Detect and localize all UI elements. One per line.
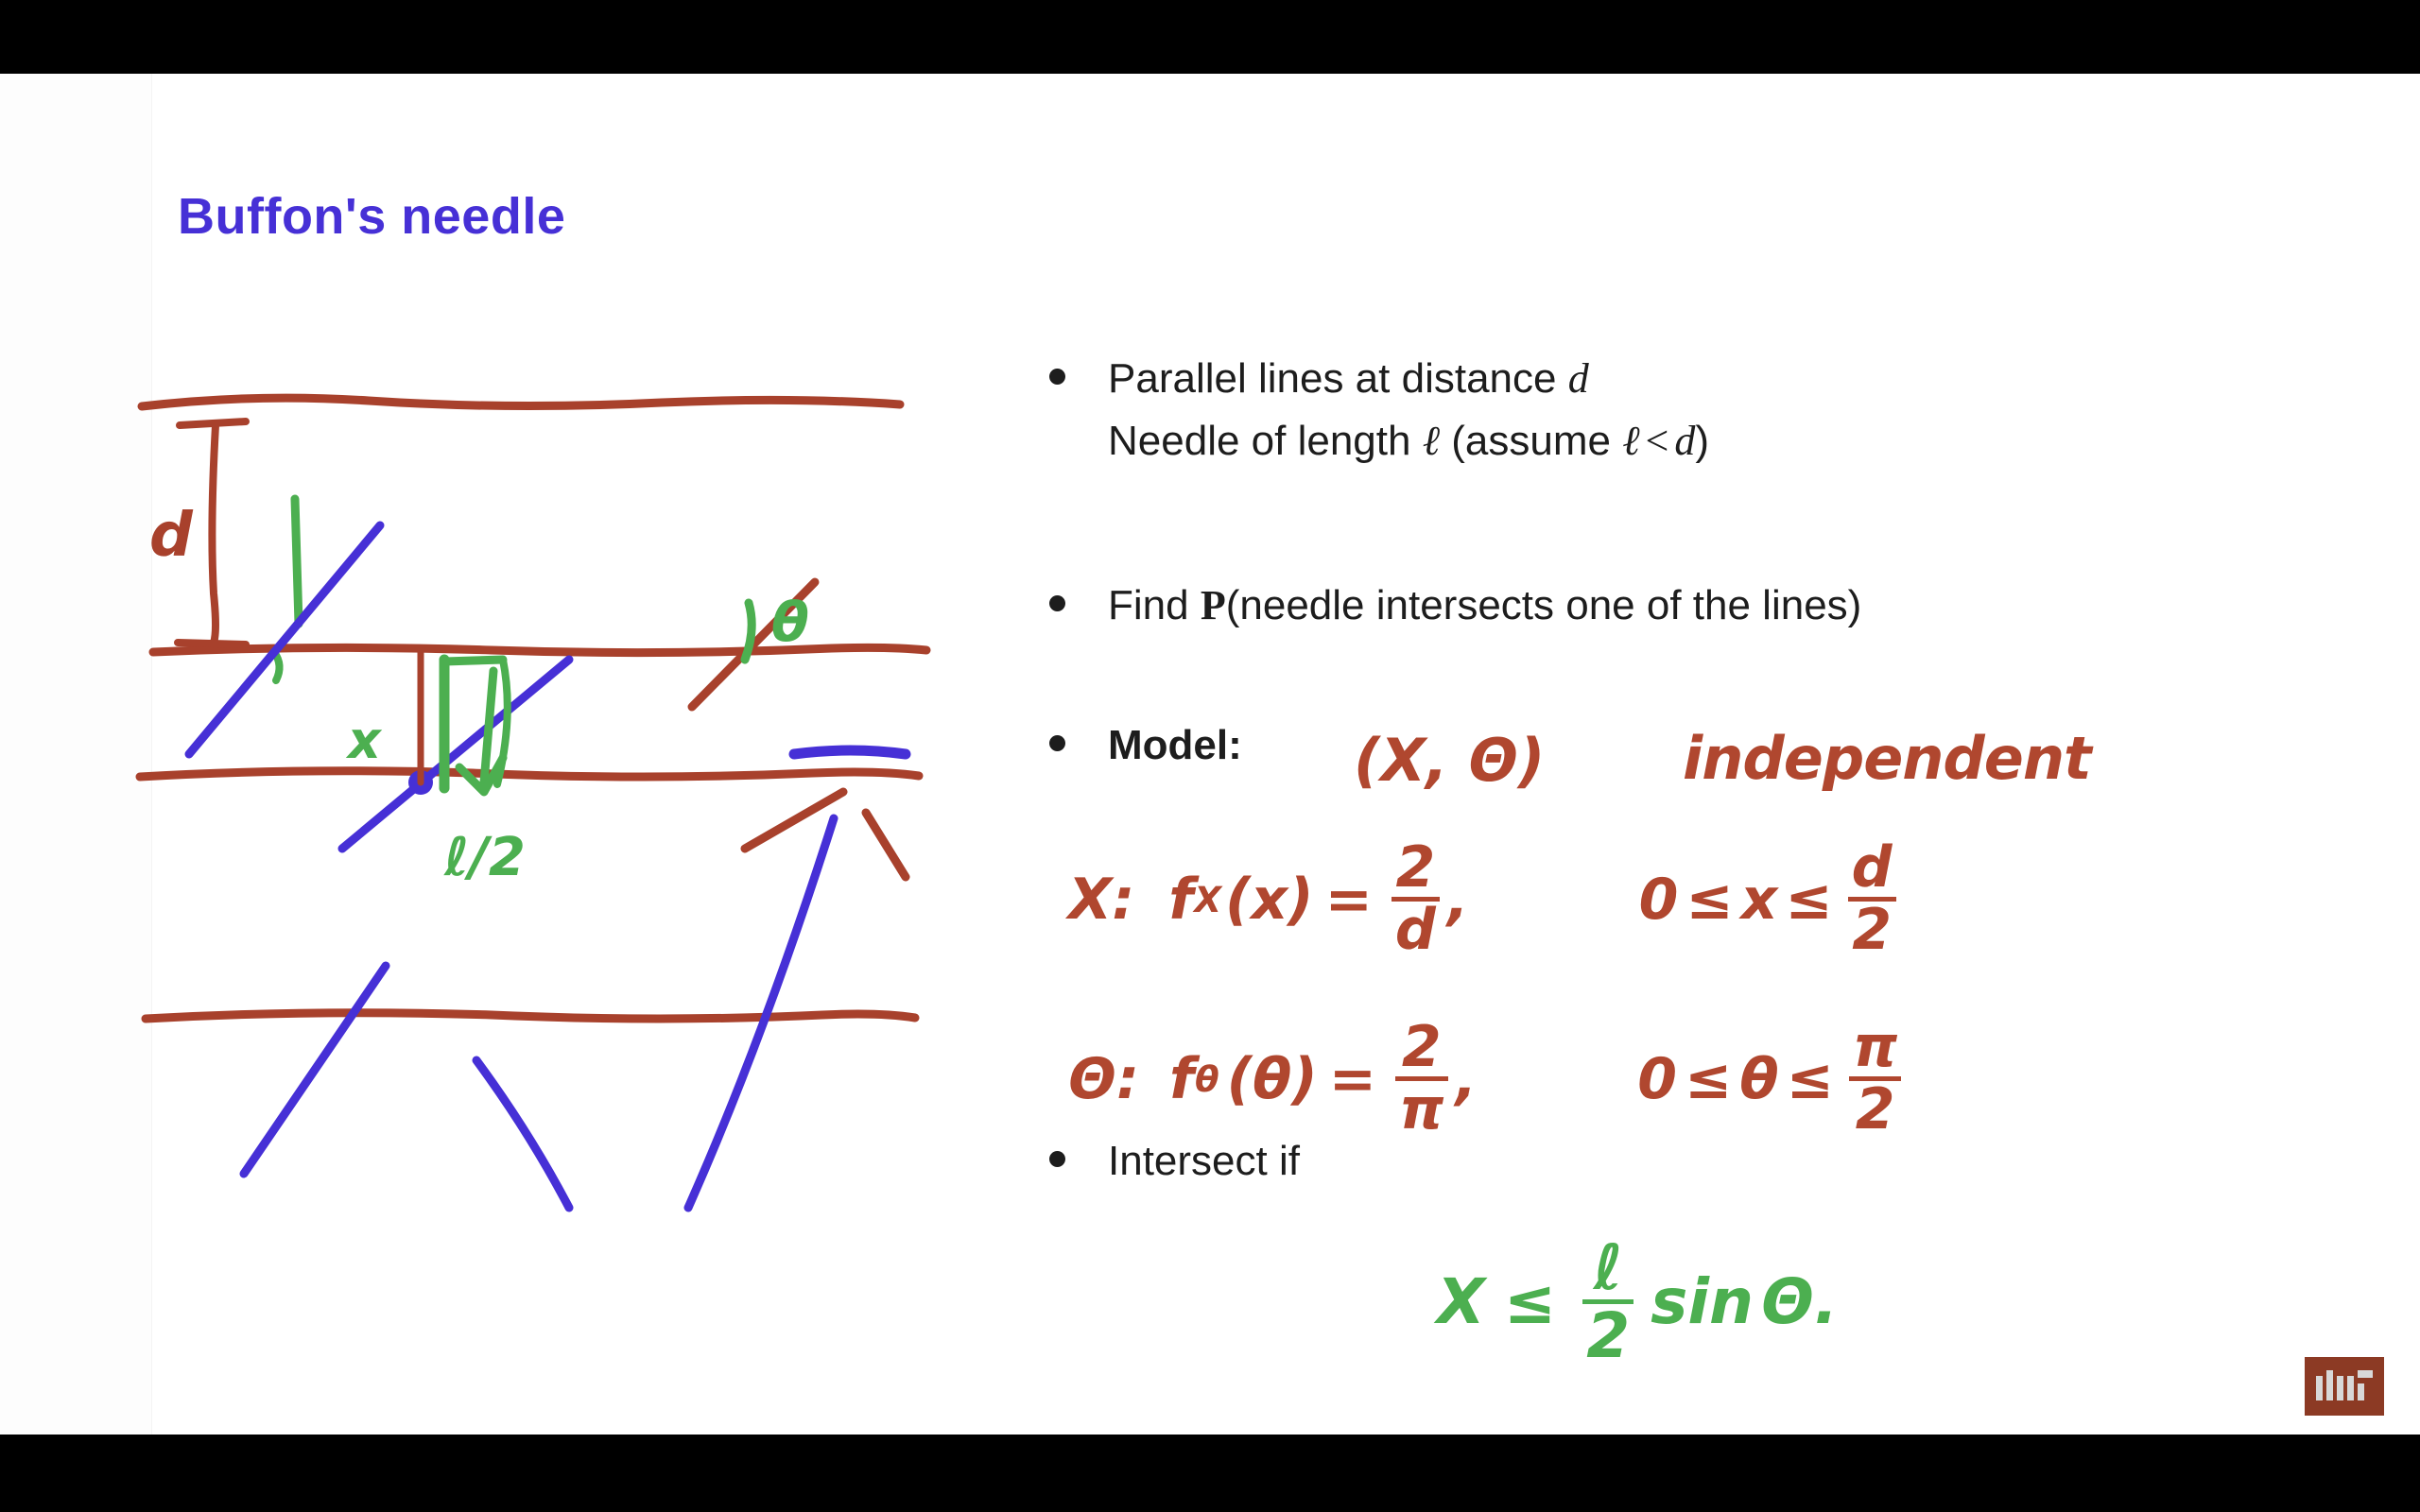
bullet-item-intersect: Intersect if <box>1049 1130 2354 1206</box>
handwritten-intersect-condition: X ≤ ℓ 2 sin Θ . <box>1437 1236 1838 1368</box>
theta-row-range-lo: 0 <box>1637 1046 1677 1112</box>
parallel-line-1 <box>142 398 900 406</box>
diagram-label-theta: θ <box>771 590 809 654</box>
bullet-dot-icon <box>1049 369 1065 385</box>
bullet-dot-icon <box>1049 735 1065 751</box>
variable-ell-1: ℓ <box>1423 418 1440 464</box>
bullet-2-line: Find P(needle intersects one of the line… <box>1108 575 2354 637</box>
x-row-name: X: <box>1068 867 1134 933</box>
handwritten-x-density-row: X: f X (x) = 2 d , 0 ≤ x ≤ d 2 <box>1068 839 1904 959</box>
mit-logo-bar-3 <box>2337 1376 2343 1400</box>
bullet-dot-icon <box>1049 595 1065 611</box>
variable-ell-2: ℓ <box>1622 418 1639 464</box>
model-paren-open: ( <box>1354 726 1380 795</box>
theta-row-fraction-denominator: π <box>1395 1076 1447 1139</box>
handwritten-independent-note: independent <box>1683 724 2091 793</box>
needle-3 <box>244 966 386 1174</box>
mit-logo <box>2305 1357 2384 1416</box>
handwritten-theta-density-row: Θ: f θ (θ) = 2 π , 0 ≤ θ ≤ π 2 <box>1068 1019 1909 1139</box>
bullet-dot-icon <box>1049 1151 1065 1167</box>
x-row-range-denominator: 2 <box>1848 897 1896 959</box>
bullet-1-text-c: (assume <box>1440 418 1622 464</box>
x-row-range-fraction: d 2 <box>1848 839 1896 959</box>
x-row-density-subscript: X <box>1193 879 1221 920</box>
buffon-needle-diagram: d x ℓ/2 θ <box>132 376 964 1227</box>
diagram-label-half-length: ℓ/2 <box>443 827 526 888</box>
x-row-fraction-denominator: d <box>1391 897 1440 959</box>
theta-row-range-rel-1: ≤ <box>1685 1046 1732 1112</box>
bullet-2-text-b: (needle intersects one of the lines) <box>1226 582 1862 628</box>
x-row-density-fraction: 2 d <box>1391 839 1440 959</box>
x-row-range-rel-2: ≤ <box>1785 867 1832 933</box>
intersect-fraction-denominator: 2 <box>1582 1299 1633 1367</box>
theta-row-equals: = <box>1329 1046 1376 1112</box>
mit-logo-bar-top <box>2358 1370 2373 1378</box>
model-var-theta: Θ <box>1468 726 1518 795</box>
x-row-range-rel-1: ≤ <box>1685 867 1733 933</box>
half-length-top-tick <box>444 660 503 661</box>
model-comma: , <box>1426 726 1448 795</box>
handwritten-model-pair: (X, Θ) <box>1354 726 1545 795</box>
x-row-density-f: f <box>1168 867 1193 933</box>
intersect-relation: ≤ <box>1504 1265 1556 1338</box>
page-title: Buffon's needle <box>178 187 565 246</box>
intersect-fraction-numerator: ℓ <box>1582 1236 1633 1299</box>
mit-logo-bar-5 <box>2358 1383 2364 1400</box>
theta-row-range-denominator: 2 <box>1849 1076 1901 1139</box>
theta-row-range-rel-2: ≤ <box>1787 1046 1834 1112</box>
relation-less-than: < <box>1640 418 1675 464</box>
model-paren-close: ) <box>1518 726 1545 795</box>
x-row-range-var: x <box>1741 867 1778 933</box>
model-label-text: Model: <box>1108 722 1242 768</box>
theta-row-density-arg: (θ) <box>1227 1046 1318 1112</box>
bullet-item-find-probability: Find P(needle intersects one of the line… <box>1049 575 2354 688</box>
bullet-1-text-a: Parallel lines at distance <box>1108 355 1568 402</box>
theta-row-range-numerator: π <box>1849 1019 1901 1076</box>
bullet-line-1: Parallel lines at distance d <box>1108 348 2354 410</box>
theta-row-density-f: f <box>1169 1046 1194 1112</box>
d-measure-cap-bottom <box>178 643 246 644</box>
x-row-equals: = <box>1325 867 1373 933</box>
half-length-arrow-stem <box>484 671 493 782</box>
intersect-sin-operator: sin <box>1651 1265 1754 1338</box>
variable-d-2: d <box>1674 418 1695 464</box>
video-frame: Buffon's needle <box>0 0 2420 1512</box>
bullet-1-text-d: ) <box>1695 418 1709 464</box>
bullet-line-2: Needle of length ℓ (assume ℓ<d) <box>1108 410 2354 472</box>
x-row-fraction-numerator: 2 <box>1391 839 1440 897</box>
paper-edge <box>0 74 152 1435</box>
mit-logo-bar-4 <box>2347 1376 2354 1400</box>
green-helper-vertical <box>295 499 299 624</box>
theta-row-range-fraction: π 2 <box>1849 1019 1901 1139</box>
model-var-x: X <box>1380 726 1426 795</box>
theta-row-density-fraction: 2 π <box>1395 1019 1447 1139</box>
stray-blue-stroke <box>794 750 906 754</box>
theta-row-density-subscript: θ <box>1194 1058 1219 1100</box>
slide-canvas: Buffon's needle <box>0 74 2420 1435</box>
theta-row-range-var: θ <box>1739 1046 1778 1112</box>
mit-logo-bar-1 <box>2316 1376 2323 1400</box>
diagram-label-d: d <box>149 501 194 571</box>
x-row-comma: , <box>1447 867 1469 933</box>
theta-row-comma: , <box>1456 1046 1478 1112</box>
bullet-4-label: Intersect if <box>1108 1130 2354 1193</box>
bullet-item-parallel-lines: Parallel lines at distance d Needle of l… <box>1049 348 2354 490</box>
diagram-label-x: x <box>345 711 383 770</box>
variable-d: d <box>1568 355 1589 402</box>
x-row-range-lo: 0 <box>1639 867 1679 933</box>
intersect-half-length-fraction: ℓ 2 <box>1582 1236 1633 1368</box>
independent-text: independent <box>1683 724 2091 793</box>
mit-logo-bar-2 <box>2326 1370 2333 1400</box>
bullet-2-text-a: Find <box>1108 582 1201 628</box>
d-measure-stem <box>212 425 216 643</box>
x-row-density-arg: (x) <box>1225 867 1314 933</box>
needle-4 <box>476 1060 569 1208</box>
intersect-var-x: X <box>1437 1265 1485 1338</box>
parallel-line-4 <box>146 1013 915 1019</box>
theta-row-fraction-numerator: 2 <box>1395 1019 1447 1076</box>
theta-arc <box>745 603 752 660</box>
intersect-period: . <box>1814 1265 1838 1338</box>
probability-operator: P <box>1201 582 1226 628</box>
parallel-line-3 <box>140 771 919 777</box>
bullet-1-text-b: Needle of length <box>1108 418 1423 464</box>
x-row-range-numerator: d <box>1848 839 1896 897</box>
theta-row-name: Θ: <box>1068 1046 1139 1112</box>
intersect-theta: Θ <box>1761 1265 1814 1338</box>
stray-brown-chevron-right <box>866 813 906 877</box>
